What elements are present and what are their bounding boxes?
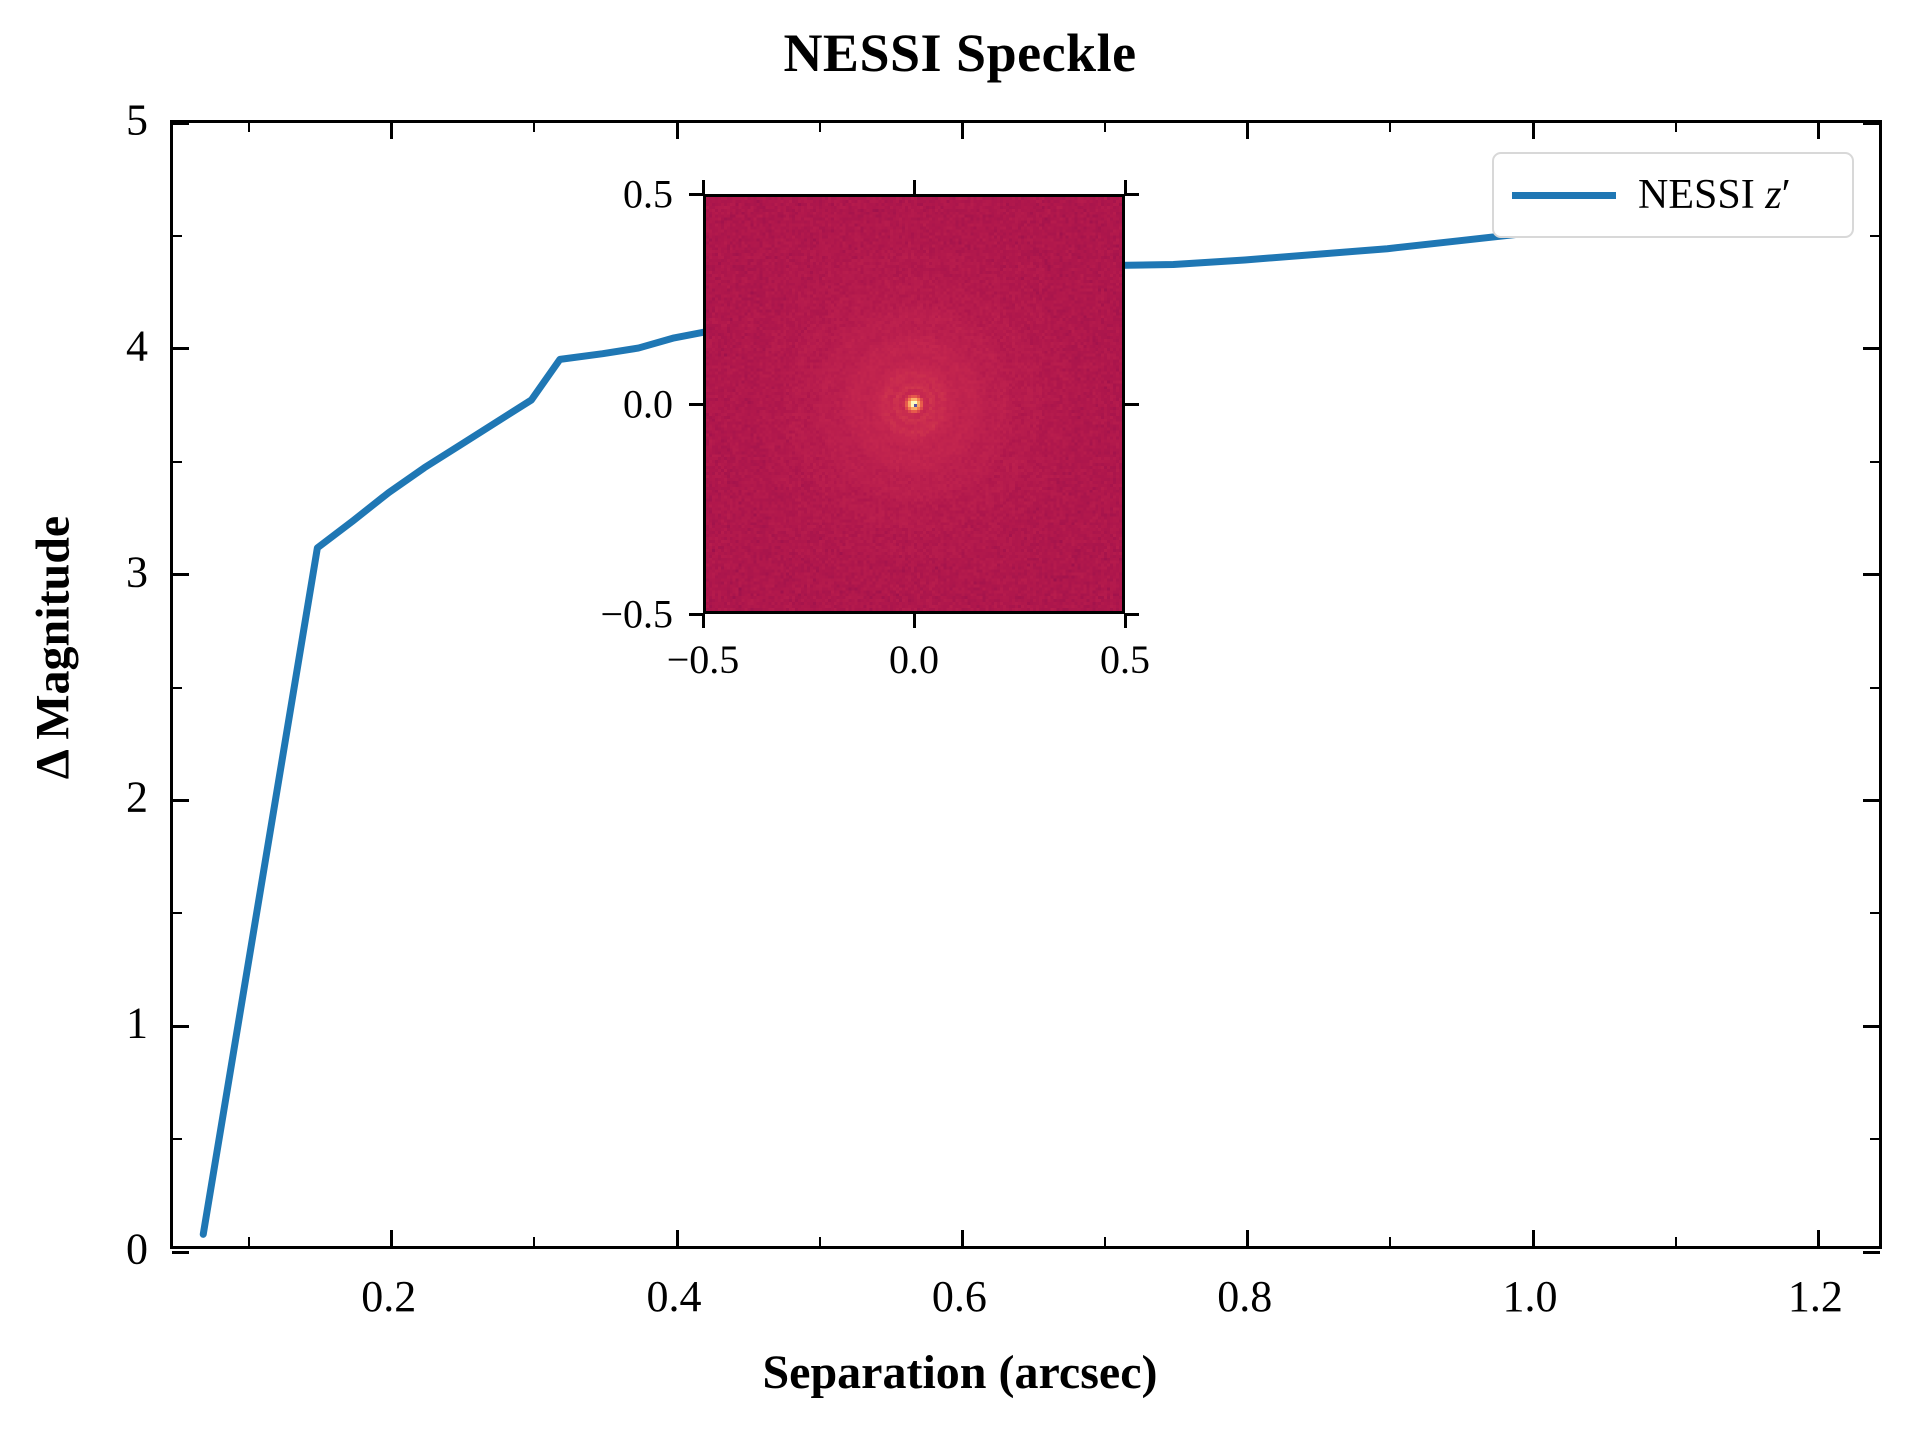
y-tick-major-right — [1863, 347, 1880, 350]
y-tick-major-right — [1863, 799, 1880, 802]
y-tick-minor — [172, 912, 182, 914]
y-tick-major — [172, 799, 189, 802]
legend-label-prime: ′ — [1782, 172, 1791, 218]
inset-axes: −0.50.00.50.50.0−0.5 — [703, 194, 1125, 614]
x-tick-major — [1532, 1230, 1535, 1247]
y-tick-major — [172, 573, 189, 576]
x-tick-label: 0.8 — [1217, 1271, 1272, 1322]
inset-y-tick-label: 0.0 — [623, 381, 673, 428]
x-tick-major-top — [676, 122, 679, 139]
x-tick-major-top — [1246, 122, 1249, 139]
y-tick-label: 4 — [148, 320, 170, 371]
y-tick-minor-right — [1870, 461, 1880, 463]
x-tick-major — [1246, 1230, 1249, 1247]
x-tick-minor — [1389, 1237, 1391, 1247]
inset-y-tick — [689, 403, 703, 406]
y-tick-major — [172, 347, 189, 350]
inset-x-tick-label: 0.0 — [889, 636, 939, 683]
inset-y-tick-right — [1125, 193, 1139, 196]
page-title: NESSI Speckle — [0, 22, 1920, 84]
x-tick-major — [1817, 1230, 1820, 1247]
inset-image-frame — [703, 194, 1125, 614]
y-tick-label: 0 — [148, 1224, 170, 1275]
inset-x-tick-label: 0.5 — [1100, 636, 1150, 683]
y-tick-major-right — [1863, 122, 1880, 125]
speckle-psf-image — [706, 197, 1122, 611]
inset-y-tick-label: 0.5 — [623, 171, 673, 218]
inset-y-tick-right — [1125, 613, 1139, 616]
x-axis-label: Separation (arcsec) — [0, 1345, 1920, 1400]
y-tick-minor — [172, 235, 182, 237]
x-tick-minor — [533, 1237, 535, 1247]
x-tick-major-top — [1817, 122, 1820, 139]
legend-label-italic: z — [1765, 172, 1781, 218]
x-tick-major-top — [1532, 122, 1535, 139]
y-tick-label: 2 — [148, 772, 170, 823]
inset-y-tick — [689, 193, 703, 196]
inset-y-tick — [689, 613, 703, 616]
inset-x-tick — [1124, 614, 1127, 628]
inset-x-tick — [702, 614, 705, 628]
y-tick-major-right — [1863, 1251, 1880, 1254]
x-tick-label: 1.2 — [1788, 1271, 1843, 1322]
y-tick-minor-right — [1870, 1138, 1880, 1140]
x-tick-minor-top — [248, 122, 250, 132]
x-tick-minor — [1675, 1237, 1677, 1247]
x-tick-major — [390, 1230, 393, 1247]
figure-canvas: NESSI Speckle Separation (arcsec) Δ Magn… — [0, 0, 1920, 1440]
y-tick-label: 1 — [148, 998, 170, 1049]
inset-x-tick-top — [913, 180, 916, 194]
x-tick-label: 0.2 — [361, 1271, 416, 1322]
x-tick-major — [961, 1230, 964, 1247]
x-tick-minor-top — [1104, 122, 1106, 132]
y-tick-major-right — [1863, 573, 1880, 576]
legend-label-plain: NESSI — [1638, 172, 1765, 218]
x-tick-minor-top — [1389, 122, 1391, 132]
x-tick-minor-top — [533, 122, 535, 132]
legend-item-label-nessi-z: NESSI z′ — [1638, 171, 1791, 219]
y-tick-major — [172, 122, 189, 125]
y-tick-minor-right — [1870, 687, 1880, 689]
legend-box[interactable]: NESSI z′ — [1492, 152, 1854, 238]
y-tick-label: 5 — [148, 95, 170, 146]
inset-x-tick-label: −0.5 — [667, 636, 740, 683]
y-tick-major — [172, 1025, 189, 1028]
inset-y-tick-label: −0.5 — [600, 591, 673, 638]
y-tick-major-right — [1863, 1025, 1880, 1028]
x-tick-label: 1.0 — [1503, 1271, 1558, 1322]
x-tick-major-top — [390, 122, 393, 139]
y-tick-minor — [172, 687, 182, 689]
x-tick-minor — [248, 1237, 250, 1247]
y-tick-label: 3 — [148, 546, 170, 597]
legend-line-swatch-nessi-z — [1512, 192, 1616, 199]
x-tick-minor-top — [819, 122, 821, 132]
x-tick-major-top — [961, 122, 964, 139]
x-tick-minor — [1104, 1237, 1106, 1247]
x-tick-minor — [819, 1237, 821, 1247]
x-tick-minor-top — [1675, 122, 1677, 132]
y-tick-minor — [172, 461, 182, 463]
y-tick-minor — [172, 1138, 182, 1140]
y-axis-label: Δ Magnitude — [26, 298, 81, 998]
x-tick-label: 0.6 — [932, 1271, 987, 1322]
inset-y-tick-right — [1125, 403, 1139, 406]
y-tick-minor-right — [1870, 235, 1880, 237]
inset-x-tick — [913, 614, 916, 628]
y-tick-minor-right — [1870, 912, 1880, 914]
x-tick-label: 0.4 — [647, 1271, 702, 1322]
x-tick-major — [676, 1230, 679, 1247]
y-tick-major — [172, 1251, 189, 1254]
